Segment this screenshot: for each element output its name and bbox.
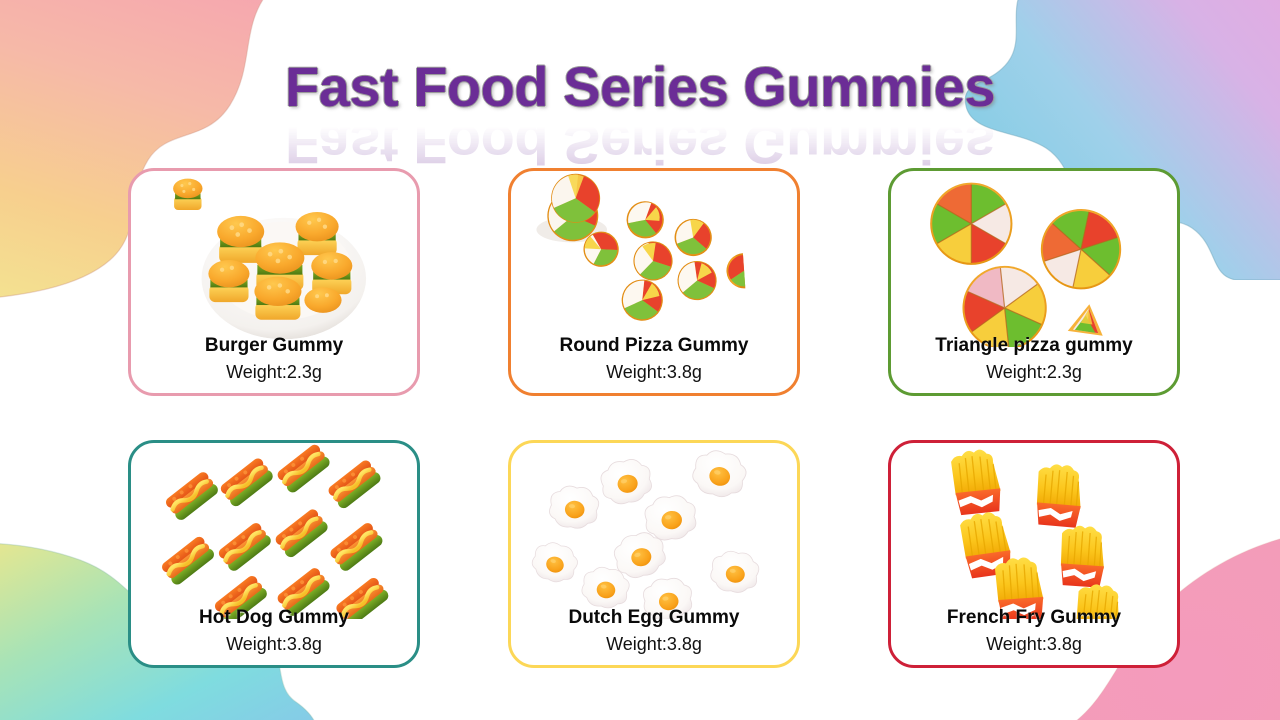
triangle-pizza-gummy-photo xyxy=(891,171,1177,347)
page-title-reflection: Fast Food Series Gummies xyxy=(0,116,1280,173)
product-caption: Burger Gummy Weight:2.3g xyxy=(131,334,417,385)
product-card-triangle-pizza-gummy[interactable]: Triangle pizza gummy Weight:2.3g xyxy=(888,168,1180,396)
product-name: Burger Gummy xyxy=(131,334,417,358)
product-weight: Weight:2.3g xyxy=(891,360,1177,385)
product-caption: Triangle pizza gummy Weight:2.3g xyxy=(891,334,1177,385)
french-fry-gummy-photo xyxy=(891,443,1177,619)
dutch-egg-gummy-photo xyxy=(511,443,797,619)
product-card-round-pizza-gummy[interactable]: Round Pizza Gummy Weight:3.8g xyxy=(508,168,800,396)
page-title: Fast Food Series Gummies xyxy=(0,58,1280,115)
product-name: Triangle pizza gummy xyxy=(891,334,1177,358)
product-card-hot-dog-gummy[interactable]: Hot Dog Gummy Weight:3.8g xyxy=(128,440,420,668)
product-caption: Dutch Egg Gummy Weight:3.8g xyxy=(511,606,797,657)
product-card-french-fry-gummy[interactable]: French Fry Gummy Weight:3.8g xyxy=(888,440,1180,668)
product-name: Dutch Egg Gummy xyxy=(511,606,797,630)
round-pizza-gummy-photo xyxy=(511,171,797,347)
product-weight: Weight:3.8g xyxy=(891,632,1177,657)
product-weight: Weight:3.8g xyxy=(131,632,417,657)
product-name: Hot Dog Gummy xyxy=(131,606,417,630)
product-caption: French Fry Gummy Weight:3.8g xyxy=(891,606,1177,657)
slide-title-block: Fast Food Series Gummies Fast Food Serie… xyxy=(0,58,1280,173)
product-caption: Hot Dog Gummy Weight:3.8g xyxy=(131,606,417,657)
product-card-dutch-egg-gummy[interactable]: Dutch Egg Gummy Weight:3.8g xyxy=(508,440,800,668)
product-card-burger-gummy[interactable]: Burger Gummy Weight:2.3g xyxy=(128,168,420,396)
product-grid: Burger Gummy Weight:2.3g xyxy=(128,168,1180,668)
hot-dog-gummy-photo xyxy=(131,443,417,619)
product-name: French Fry Gummy xyxy=(891,606,1177,630)
product-name: Round Pizza Gummy xyxy=(511,334,797,358)
product-weight: Weight:3.8g xyxy=(511,632,797,657)
product-caption: Round Pizza Gummy Weight:3.8g xyxy=(511,334,797,385)
burger-gummy-photo xyxy=(131,171,417,347)
product-weight: Weight:3.8g xyxy=(511,360,797,385)
product-weight: Weight:2.3g xyxy=(131,360,417,385)
